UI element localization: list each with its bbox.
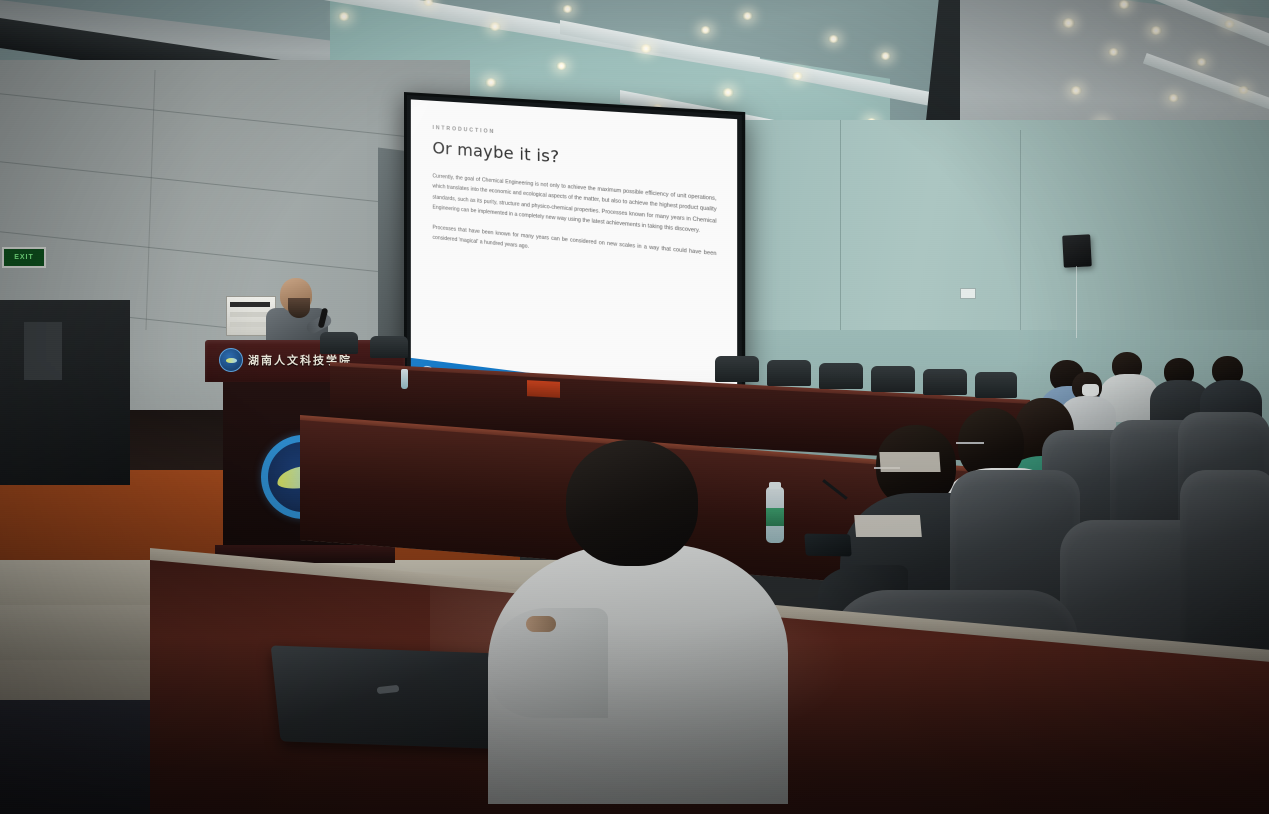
presenter-beard	[288, 298, 310, 318]
foreground-attendee	[488, 440, 798, 814]
front-chairs	[330, 332, 1030, 378]
front-red-object	[527, 380, 560, 398]
foreground-attendee-head	[566, 440, 698, 566]
exit-sign-label: EXIT	[14, 254, 34, 261]
side-cabinet	[0, 300, 130, 485]
speaker-cable	[1076, 266, 1077, 338]
face-mask-icon	[1082, 384, 1099, 396]
exit-sign-icon: EXIT	[2, 247, 46, 268]
side-cabinet-panel	[24, 322, 62, 380]
foreground-attendee-hand	[526, 616, 556, 632]
auditorium-seat	[1180, 470, 1269, 650]
hunan-crest-icon	[219, 348, 243, 372]
paper-sheet	[879, 452, 940, 472]
wall-speaker-icon	[1062, 234, 1092, 267]
lecture-hall-photo: EXIT INTRODUCTION Or maybe it is? Curren…	[0, 0, 1269, 814]
front-water-bottle	[401, 369, 408, 389]
notepad	[854, 515, 922, 537]
smartphone[interactable]	[804, 534, 851, 557]
laptop[interactable]	[271, 645, 515, 749]
wall-plate-icon	[960, 288, 976, 299]
